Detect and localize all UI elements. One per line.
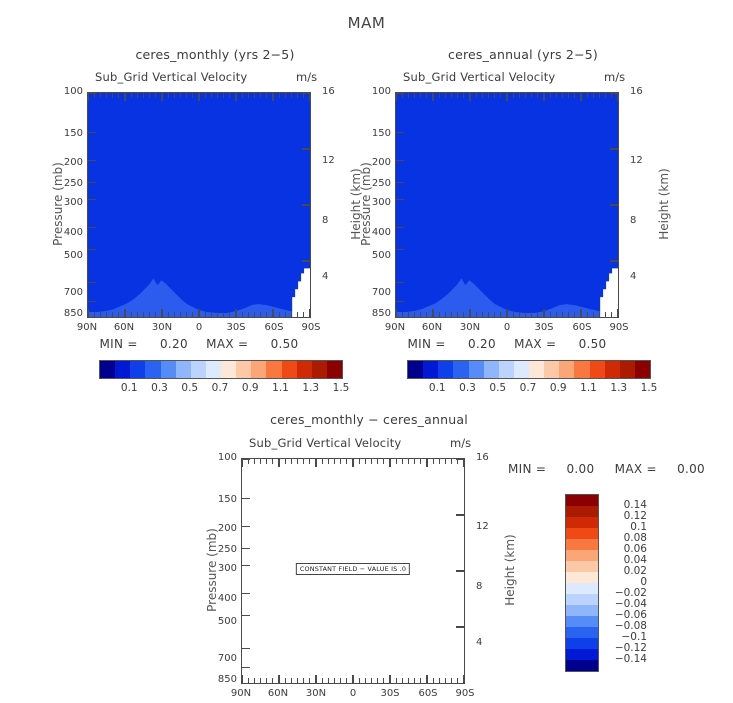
colorbar-cell: [145, 361, 160, 378]
axis-tick: [408, 93, 409, 98]
xtick-30N: 30N: [460, 322, 480, 333]
axis-tick: [242, 526, 250, 527]
axis-tick: [580, 93, 581, 101]
axis-tick: [610, 92, 618, 93]
axis-tick: [359, 678, 360, 683]
y2tick-16: 16: [322, 86, 335, 97]
axis-tick: [395, 309, 396, 317]
panel-monthly-title: ceres_monthly (yrs 2−5): [85, 47, 345, 62]
axis-tick: [100, 93, 101, 98]
axis-tick: [242, 312, 243, 317]
colorbar-cell: [566, 495, 598, 506]
panel-difference-plot-area[interactable]: CONSTANT FIELD − VALUE IS .0: [241, 458, 465, 684]
axis-tick: [396, 160, 404, 161]
axis-tick: [476, 93, 477, 98]
colorbar-cell: [544, 361, 559, 378]
axis-tick: [254, 312, 255, 317]
axis-tick: [476, 312, 477, 317]
axis-tick: [396, 132, 404, 133]
ytick-700: 700: [57, 287, 83, 298]
xtick-0: 0: [350, 688, 356, 699]
axis-tick: [235, 309, 236, 317]
axis-tick: [192, 312, 193, 317]
axis-tick: [414, 312, 415, 317]
colorbar-cell: [453, 361, 468, 378]
axis-tick: [420, 312, 421, 317]
axis-tick: [266, 312, 267, 317]
axis-tick: [131, 312, 132, 317]
axis-tick: [272, 678, 273, 683]
axis-tick: [278, 675, 279, 683]
axis-tick: [112, 312, 113, 317]
y2tick-8: 8: [322, 215, 328, 226]
axis-tick: [396, 199, 404, 200]
colorbar-cell: [566, 616, 598, 627]
axis-tick: [408, 459, 409, 464]
y2tick-8: 8: [630, 215, 636, 226]
colorbar-cell: [574, 361, 589, 378]
axis-tick: [297, 678, 298, 683]
colorbar-cell: [566, 539, 598, 550]
axis-tick: [605, 312, 606, 317]
axis-tick: [334, 678, 335, 683]
panel-monthly-max-value: 0.50: [271, 337, 299, 351]
colorbar-cell: [566, 572, 598, 583]
axis-tick: [494, 93, 495, 98]
axis-tick: [414, 678, 415, 683]
axis-tick: [303, 312, 304, 317]
axis-tick: [248, 678, 249, 683]
axis-tick: [211, 312, 212, 317]
colorbar-cell: [566, 550, 598, 561]
axis-tick: [272, 309, 273, 317]
axis-tick: [254, 93, 255, 98]
axis-tick: [100, 312, 101, 317]
axis-tick: [365, 678, 366, 683]
ytick-400: 400: [211, 593, 237, 604]
axis-tick: [334, 459, 335, 464]
axis-tick: [433, 678, 434, 683]
axis-tick: [587, 312, 588, 317]
colorbar-cell: [566, 649, 598, 660]
axis-tick: [143, 93, 144, 98]
axis-tick: [463, 93, 464, 98]
axis-tick: [266, 459, 267, 464]
axis-tick: [88, 132, 96, 133]
axis-tick: [279, 312, 280, 317]
axis-tick: [593, 93, 594, 98]
axis-tick: [242, 93, 243, 98]
axis-tick: [328, 459, 329, 464]
panel-monthly-minmax: MIN = 0.20 MAX = 0.50: [85, 337, 313, 351]
axis-tick: [155, 93, 156, 98]
axis-tick: [383, 678, 384, 683]
axis-tick: [248, 93, 249, 98]
colorbar-cell: [484, 361, 499, 378]
axis-tick: [87, 93, 88, 101]
axis-tick: [315, 459, 316, 467]
axis-tick: [432, 93, 433, 101]
axis-tick: [88, 227, 96, 228]
axis-tick: [574, 93, 575, 98]
axis-tick: [396, 227, 404, 228]
y2tick-12: 12: [630, 155, 643, 166]
axis-tick: [88, 282, 96, 283]
y2tick-16: 16: [476, 452, 489, 463]
axis-tick: [278, 459, 279, 467]
axis-tick: [457, 678, 458, 683]
axis-tick: [605, 93, 606, 98]
axis-tick: [149, 312, 150, 317]
axis-tick: [414, 93, 415, 98]
ytick-200: 200: [211, 523, 237, 534]
colorbar-cell: [605, 361, 620, 378]
axis-tick: [260, 93, 261, 98]
xtick-30N: 30N: [306, 688, 326, 699]
axis-tick: [513, 312, 514, 317]
ytick-300: 300: [211, 563, 237, 574]
axis-tick: [445, 678, 446, 683]
xtick-60S: 60S: [418, 688, 437, 699]
axis-tick: [513, 93, 514, 98]
ytick-100: 100: [365, 86, 391, 97]
ytick-150: 150: [211, 494, 237, 505]
axis-tick: [272, 459, 273, 464]
axis-tick: [469, 309, 470, 317]
colorbar-tick-label: 0.9: [242, 382, 259, 394]
colorbar-cell: [408, 361, 423, 378]
panel-annual-colorbar-labels: 0.10.30.50.70.91.11.31.5: [407, 382, 649, 396]
ytick-150: 150: [365, 128, 391, 139]
colorbar-tick-label: 1.5: [641, 382, 658, 394]
axis-tick: [168, 312, 169, 317]
panel-difference-min-value: 0.00: [567, 462, 595, 476]
axis-tick: [617, 309, 618, 317]
ytick-100: 100: [57, 86, 83, 97]
axis-tick: [377, 678, 378, 683]
axis-tick: [161, 309, 162, 317]
axis-tick: [463, 675, 464, 683]
colorbar-cell: [566, 583, 598, 594]
axis-tick: [371, 678, 372, 683]
colorbar-cell: [282, 361, 297, 378]
axis-tick: [402, 312, 403, 317]
panel-difference-colorbar[interactable]: [565, 494, 599, 672]
xtick-60S: 60S: [572, 322, 591, 333]
colorbar-tick-label: 0.7: [212, 382, 229, 394]
xtick-30S: 30S: [380, 688, 399, 699]
axis-tick: [445, 459, 446, 464]
axis-tick: [383, 459, 384, 464]
axis-tick: [223, 312, 224, 317]
panel-difference-subtitle: Sub_Grid Vertical Velocity: [249, 436, 401, 450]
colorbar-cell: [620, 361, 635, 378]
axis-tick: [137, 93, 138, 98]
panel-monthly-colorbar[interactable]: [99, 360, 343, 379]
colorbar-cell: [438, 361, 453, 378]
axis-tick: [248, 459, 249, 464]
axis-tick: [537, 312, 538, 317]
xtick-90N: 90N: [385, 322, 405, 333]
axis-tick: [242, 458, 250, 459]
axis-tick: [543, 309, 544, 317]
colorbar-tick-label: 0.7: [520, 382, 537, 394]
axis-tick: [235, 93, 236, 101]
ytick-250: 250: [211, 544, 237, 555]
axis-tick: [389, 459, 390, 467]
axis-tick: [352, 459, 353, 467]
axis-tick: [131, 93, 132, 98]
axis-tick: [457, 312, 458, 317]
colorbar-tick-label: 0.9: [550, 382, 567, 394]
axis-tick: [543, 93, 544, 101]
axis-tick: [198, 93, 199, 101]
axis-tick: [106, 93, 107, 98]
panel-monthly-plot-area[interactable]: [87, 92, 311, 318]
axis-tick: [285, 93, 286, 98]
colorbar-tick-label: 1.1: [272, 382, 289, 394]
axis-tick: [396, 678, 397, 683]
axis-tick: [303, 93, 304, 98]
ytick-500: 500: [57, 250, 83, 261]
axis-tick: [426, 675, 427, 683]
axis-tick: [587, 93, 588, 98]
axis-tick: [531, 93, 532, 98]
panel-difference-y2-axis-label: Height (km): [503, 505, 517, 635]
axis-tick: [377, 459, 378, 464]
panel-annual-plot-area[interactable]: [395, 92, 619, 318]
axis-tick: [242, 648, 250, 649]
axis-tick: [241, 459, 242, 467]
axis-tick: [574, 312, 575, 317]
panel-annual-subtitle: Sub_Grid Vertical Velocity: [403, 70, 555, 84]
panel-monthly-units: m/s: [296, 70, 317, 84]
panel-monthly-terrain: [88, 93, 310, 317]
axis-tick: [445, 93, 446, 98]
axis-tick: [315, 675, 316, 683]
ytick-500: 500: [365, 250, 391, 261]
axis-tick: [456, 458, 464, 459]
colorbar-cell: [566, 594, 598, 605]
axis-tick: [593, 312, 594, 317]
xtick-60N: 60N: [114, 322, 134, 333]
xtick-0: 0: [504, 322, 510, 333]
colorbar-cell: [566, 627, 598, 638]
colorbar-cell: [297, 361, 312, 378]
axis-tick: [456, 626, 464, 627]
panel-difference-max-value: 0.00: [677, 462, 705, 476]
axis-tick: [242, 593, 250, 594]
axis-tick: [610, 204, 618, 205]
colorbar-cell: [221, 361, 236, 378]
axis-tick: [402, 93, 403, 98]
colorbar-cell: [559, 361, 574, 378]
axis-tick: [302, 204, 310, 205]
axis-tick: [242, 565, 250, 566]
axis-tick: [599, 93, 600, 98]
y2tick-12: 12: [476, 521, 489, 532]
axis-tick: [248, 312, 249, 317]
axis-tick: [457, 93, 458, 98]
axis-tick: [302, 148, 310, 149]
colorbar-cell: [566, 561, 598, 572]
axis-tick: [124, 93, 125, 101]
axis-tick: [451, 678, 452, 683]
panel-monthly-max-label: MAX =: [206, 337, 248, 351]
axis-tick: [186, 312, 187, 317]
axis-tick: [87, 309, 88, 317]
axis-tick: [445, 312, 446, 317]
axis-tick: [291, 678, 292, 683]
axis-tick: [500, 93, 501, 98]
axis-tick: [322, 678, 323, 683]
panel-annual-units: m/s: [604, 70, 625, 84]
axis-tick: [599, 312, 600, 317]
axis-tick: [433, 459, 434, 464]
axis-tick: [396, 301, 404, 302]
panel-difference-min-label: MIN =: [508, 462, 546, 476]
axis-tick: [556, 312, 557, 317]
axis-tick: [211, 93, 212, 98]
axis-tick: [309, 93, 310, 101]
axis-tick: [88, 160, 96, 161]
axis-tick: [229, 312, 230, 317]
xtick-60N: 60N: [422, 322, 442, 333]
xtick-60S: 60S: [264, 322, 283, 333]
y2tick-8: 8: [476, 581, 482, 592]
colorbar-cell: [566, 638, 598, 649]
axis-tick: [180, 93, 181, 98]
panel-annual-colorbar[interactable]: [407, 360, 651, 379]
axis-tick: [352, 675, 353, 683]
colorbar-tick-label: 0.1: [429, 382, 446, 394]
axis-tick: [291, 93, 292, 98]
colorbar-cell: [176, 361, 191, 378]
axis-tick: [106, 312, 107, 317]
colorbar-cell: [423, 361, 438, 378]
colorbar-cell: [514, 361, 529, 378]
colorbar-cell: [236, 361, 251, 378]
colorbar-cell: [130, 361, 145, 378]
colorbar-cell: [499, 361, 514, 378]
ytick-700: 700: [211, 653, 237, 664]
axis-tick: [88, 182, 96, 183]
axis-tick: [414, 459, 415, 464]
colorbar-tick-label: 1.3: [610, 382, 627, 394]
axis-tick: [500, 312, 501, 317]
ytick-300: 300: [365, 197, 391, 208]
axis-tick: [242, 548, 250, 549]
colorbar-tick-label: 0.3: [151, 382, 168, 394]
colorbar-cell: [266, 361, 281, 378]
axis-tick: [439, 459, 440, 464]
axis-tick: [568, 312, 569, 317]
axis-tick: [556, 93, 557, 98]
axis-tick: [396, 182, 404, 183]
xtick-90S: 90S: [609, 322, 628, 333]
axis-tick: [266, 93, 267, 98]
axis-tick: [149, 93, 150, 98]
axis-tick: [359, 459, 360, 464]
axis-tick: [426, 93, 427, 98]
axis-tick: [303, 678, 304, 683]
axis-tick: [408, 678, 409, 683]
colorbar-cell: [191, 361, 206, 378]
xtick-90N: 90N: [231, 688, 251, 699]
axis-tick: [426, 459, 427, 467]
xtick-30N: 30N: [152, 322, 172, 333]
panel-annual-terrain: [396, 93, 618, 317]
axis-tick: [309, 678, 310, 683]
axis-tick: [242, 498, 250, 499]
axis-tick: [617, 93, 618, 101]
axis-tick: [241, 675, 242, 683]
axis-tick: [217, 93, 218, 98]
colorbar-cell: [566, 506, 598, 517]
colorbar-cell: [327, 361, 342, 378]
axis-tick: [260, 678, 261, 683]
ytick-400: 400: [365, 227, 391, 238]
axis-tick: [463, 459, 464, 467]
figure-suptitle: MAM: [0, 14, 733, 32]
axis-tick: [550, 93, 551, 98]
axis-tick: [469, 93, 470, 101]
ytick-200: 200: [57, 157, 83, 168]
ytick-700: 700: [365, 287, 391, 298]
panel-annual-minmax: MIN = 0.20 MAX = 0.50: [393, 337, 621, 351]
axis-tick: [254, 459, 255, 464]
panel-annual-max-value: 0.50: [579, 337, 607, 351]
axis-tick: [168, 93, 169, 98]
ytick-100: 100: [211, 452, 237, 463]
axis-tick: [285, 312, 286, 317]
axis-tick: [272, 93, 273, 101]
colorbar-cell: [206, 361, 221, 378]
axis-tick: [451, 93, 452, 98]
axis-tick: [457, 459, 458, 464]
colorbar-cell: [251, 361, 266, 378]
axis-tick: [365, 459, 366, 464]
xtick-30S: 30S: [226, 322, 245, 333]
axis-tick: [439, 312, 440, 317]
axis-tick: [439, 93, 440, 98]
axis-tick: [94, 312, 95, 317]
axis-tick: [519, 312, 520, 317]
axis-tick: [285, 459, 286, 464]
axis-tick: [463, 312, 464, 317]
axis-tick: [340, 459, 341, 464]
panel-difference-minmax: MIN = 0.00 MAX = 0.00: [508, 462, 705, 476]
ytick-250: 250: [57, 178, 83, 189]
axis-tick: [254, 678, 255, 683]
colorbar-cell: [469, 361, 484, 378]
axis-tick: [432, 309, 433, 317]
axis-tick: [346, 678, 347, 683]
axis-tick: [456, 570, 464, 571]
axis-tick: [580, 309, 581, 317]
panel-difference-max-label: MAX =: [615, 462, 657, 476]
colorbar-cell: [635, 361, 650, 378]
axis-tick: [525, 93, 526, 98]
ytick-150: 150: [57, 128, 83, 139]
axis-tick: [217, 312, 218, 317]
axis-tick: [242, 615, 250, 616]
axis-tick: [408, 312, 409, 317]
y2tick-4: 4: [630, 271, 636, 282]
colorbar-cell: [566, 517, 598, 528]
axis-tick: [396, 459, 397, 464]
axis-tick: [88, 92, 96, 93]
